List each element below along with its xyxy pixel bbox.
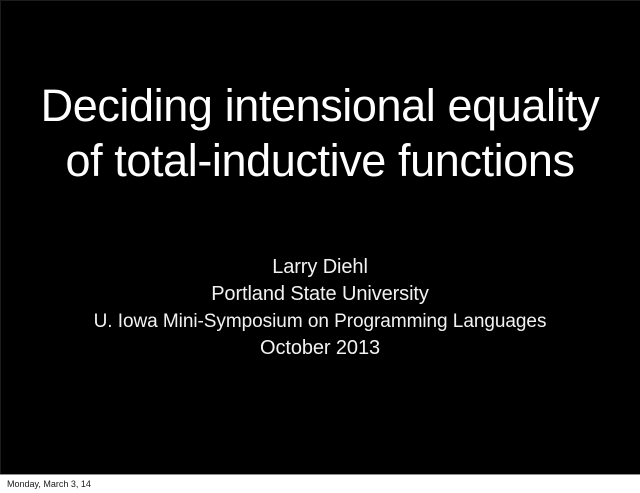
subtitle-venue: U. Iowa Mini-Symposium on Programming La… (0, 308, 640, 335)
title-line-1: Deciding intensional equality (0, 78, 640, 133)
subtitle-author: Larry Diehl (0, 254, 640, 281)
subtitle-date: October 2013 (0, 335, 640, 362)
slide-title: Deciding intensional equality of total-i… (0, 78, 640, 188)
subtitle-affiliation: Portland State University (0, 281, 640, 308)
footer-strip: Monday, March 3, 14 (0, 474, 640, 493)
footer-date-label: Monday, March 3, 14 (7, 478, 91, 490)
slide-frame: Deciding intensional equality of total-i… (0, 0, 640, 493)
slide-canvas: Deciding intensional equality of total-i… (0, 0, 640, 474)
slide-subtitle: Larry Diehl Portland State University U.… (0, 254, 640, 362)
title-line-2: of total-inductive functions (0, 133, 640, 188)
